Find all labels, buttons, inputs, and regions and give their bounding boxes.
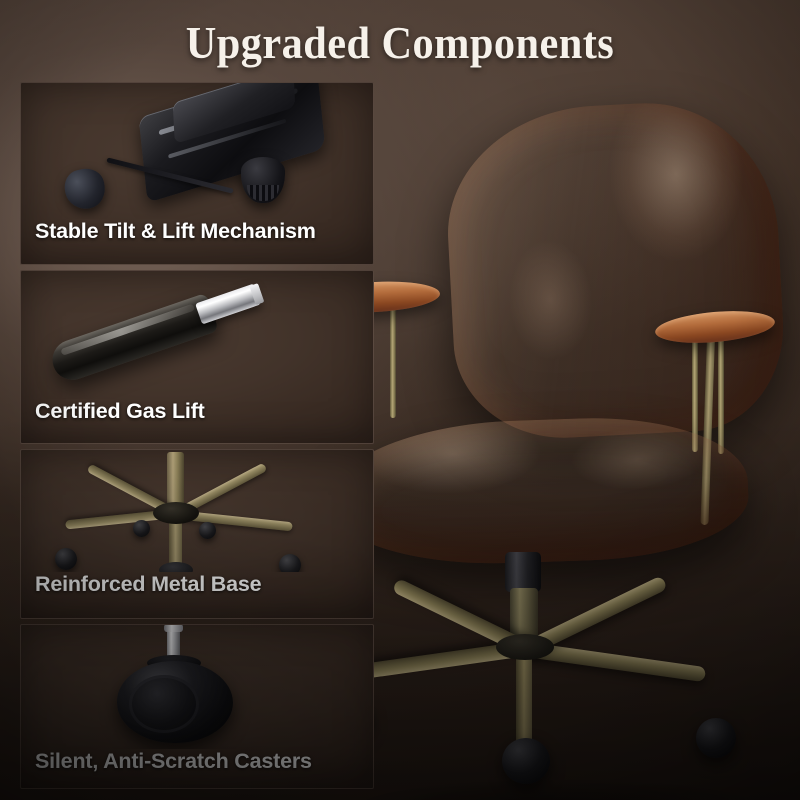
chair-base-hub — [496, 634, 554, 660]
feature-label-tilt-mechanism: Stable Tilt & Lift Mechanism — [21, 219, 373, 256]
gas-lift-icon — [21, 271, 373, 399]
product-chair-image — [300, 90, 800, 790]
caster-icon — [21, 625, 373, 749]
armrest-post-right-2 — [718, 334, 724, 454]
feature-card-gas-lift[interactable]: Certified Gas Lift — [20, 270, 374, 444]
chair-gas-lift-cylinder — [510, 588, 538, 640]
armrest-post-left-2 — [390, 306, 396, 418]
feature-card-casters[interactable]: Silent, Anti-Scratch Casters — [20, 624, 374, 789]
chair-floor-shadow — [360, 780, 760, 800]
chair-base-front-spoke — [516, 650, 532, 746]
feature-label-metal-base: Reinforced Metal Base — [21, 572, 373, 609]
tilt-mechanism-icon — [21, 83, 373, 219]
chair-caster — [696, 718, 736, 758]
feature-label-gas-lift: Certified Gas Lift — [21, 399, 373, 436]
product-feature-infographic: Upgraded Components — [0, 0, 800, 800]
feature-card-metal-base[interactable]: Reinforced Metal Base — [20, 449, 374, 619]
feature-card-tilt-mechanism[interactable]: Stable Tilt & Lift Mechanism — [20, 82, 374, 265]
feature-label-casters: Silent, Anti-Scratch Casters — [21, 749, 373, 786]
chair-backrest — [442, 97, 789, 444]
chair-caster — [502, 738, 550, 784]
chair-gas-lift-collar — [505, 552, 541, 592]
metal-base-icon — [21, 450, 373, 572]
chair-seat — [326, 413, 751, 570]
page-title: Upgraded Components — [32, 16, 768, 69]
